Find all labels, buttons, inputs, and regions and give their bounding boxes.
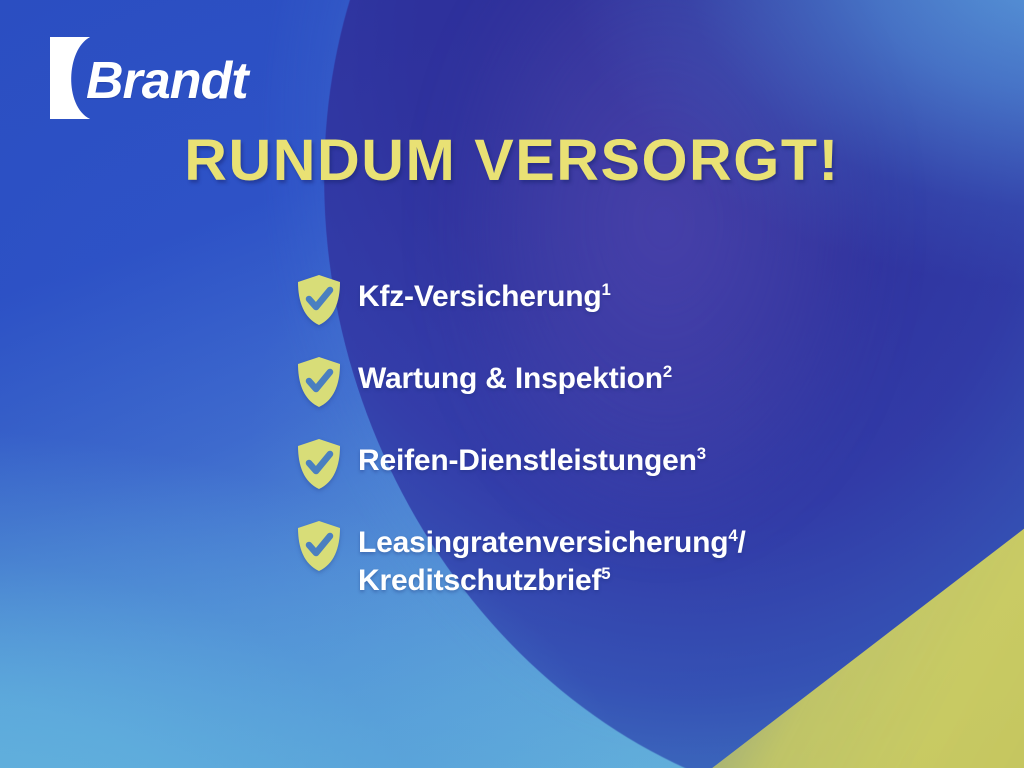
benefit-label-separator: / (737, 526, 745, 559)
footnote-marker: 5 (601, 564, 610, 583)
benefit-item-wartung-inspektion: Wartung & Inspektion2 (296, 354, 996, 436)
bracket-logo-icon (50, 37, 90, 119)
brand-wordmark: Brandt (86, 55, 248, 107)
shield-check-icon (296, 438, 342, 490)
brand-logo: Brandt (50, 36, 248, 120)
footnote-marker: 3 (697, 444, 706, 463)
benefit-label: Leasingratenversicherung4/ Kreditschutzb… (358, 518, 996, 601)
promo-poster: Brandt RUNDUM VERSORGT! Kfz-Versicherung… (0, 0, 1024, 768)
benefit-label: Reifen-Dienstleistungen3 (358, 436, 706, 480)
benefit-item-leasingratenversicherung: Leasingratenversicherung4/ Kreditschutzb… (296, 518, 996, 601)
shield-check-icon (296, 274, 342, 326)
benefit-label: Kfz-Versicherung1 (358, 272, 611, 316)
shield-check-icon (296, 520, 342, 572)
footnote-marker: 1 (602, 280, 611, 299)
poster-content: Brandt RUNDUM VERSORGT! Kfz-Versicherung… (0, 0, 1024, 768)
page-title: RUNDUM VERSORGT! (0, 132, 1024, 190)
benefit-item-kfz-versicherung: Kfz-Versicherung1 (296, 272, 996, 354)
footnote-marker: 2 (663, 362, 672, 381)
benefit-label: Wartung & Inspektion2 (358, 354, 672, 398)
shield-check-icon (296, 356, 342, 408)
benefits-list: Kfz-Versicherung1 Wartung & Inspektion2 (296, 272, 996, 601)
benefit-item-reifen-dienstleistungen: Reifen-Dienstleistungen3 (296, 436, 996, 518)
